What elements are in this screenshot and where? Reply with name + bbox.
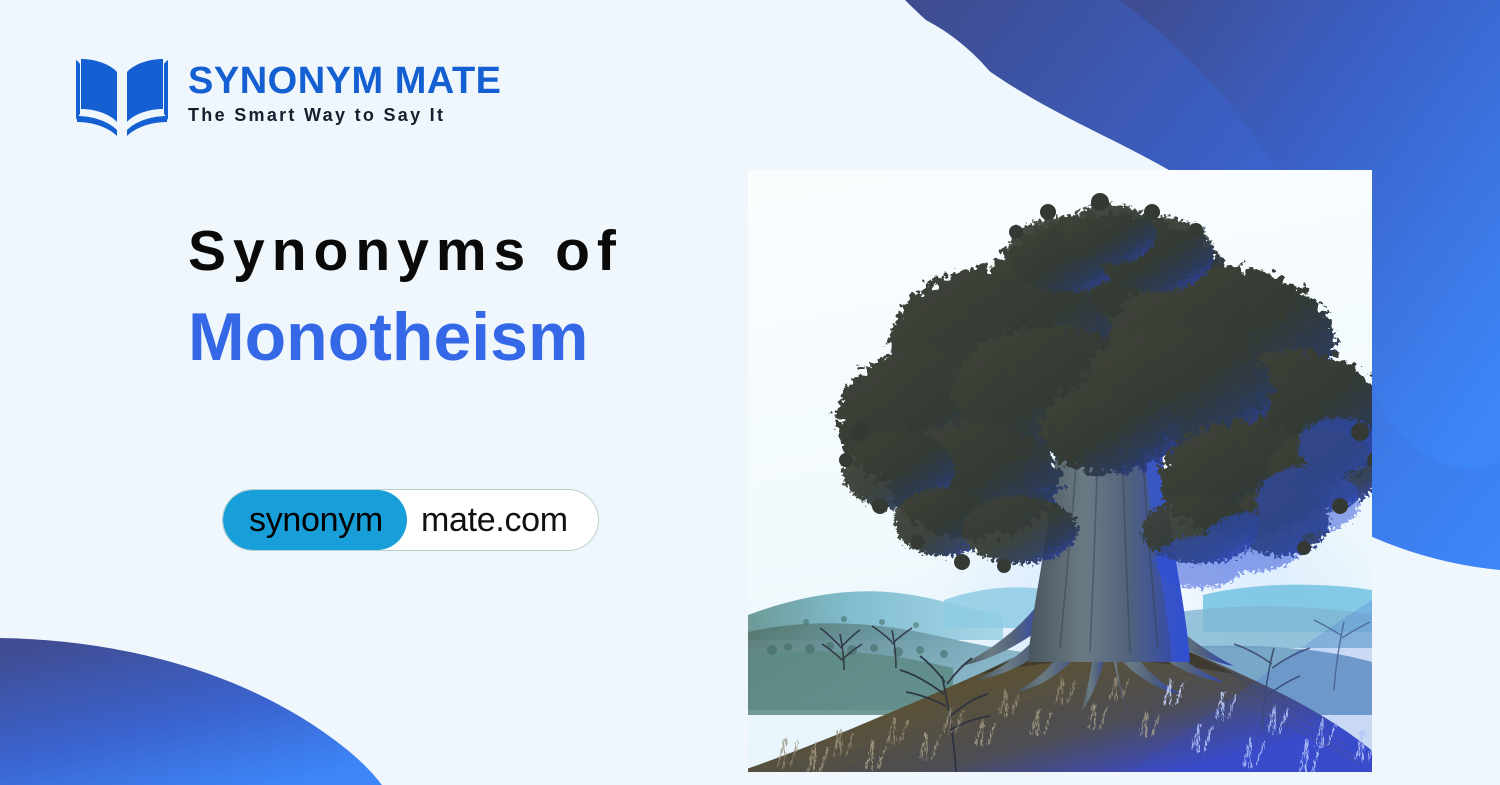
logo-wordmark: SYNONYM MATE The Smart Way to Say It [188,62,502,126]
hero-tree-image [748,170,1372,772]
page-title: Synonyms of Monotheism [188,222,623,373]
poster-canvas: SYNONYM MATE The Smart Way to Say It Syn… [0,0,1500,785]
brand-tagline: The Smart Way to Say It [188,105,502,127]
bottom-left-blue-arc [0,638,382,785]
open-book-icon [70,50,174,138]
url-brand-segment: synonym [223,490,407,550]
headline-prefix: Synonyms of [188,222,623,282]
site-url-badge[interactable]: synonym mate.com [222,489,599,551]
brand-name: SYNONYM MATE [188,62,502,101]
url-domain-segment: mate.com [407,490,598,550]
site-logo[interactable]: SYNONYM MATE The Smart Way to Say It [70,50,502,138]
headline-keyword: Monotheism [188,302,623,373]
